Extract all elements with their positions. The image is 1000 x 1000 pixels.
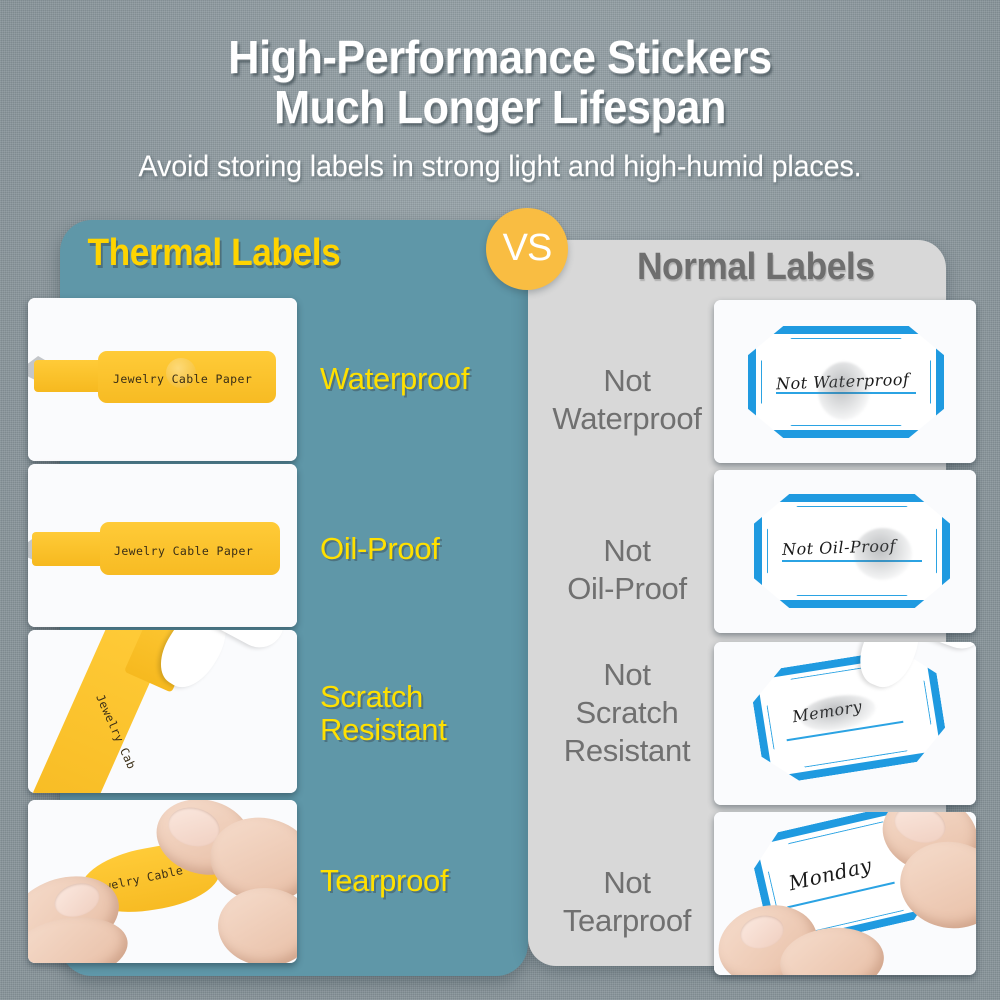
thermal-label-text: Jewelry Cable Paper: [114, 544, 253, 558]
normal-photo-card-waterproof: Not Waterproof: [714, 300, 976, 463]
normal-photo-2: Not Oil-Proof: [714, 470, 976, 633]
label-tail: [32, 532, 104, 566]
normal-feature-not-scratch: Not Scratch Resistant: [524, 656, 730, 769]
water-smudge: [818, 362, 870, 420]
normal-labels-title: Normal Labels: [637, 246, 874, 289]
normal-feature-not-tearproof: Not Tearproof: [524, 864, 730, 940]
vs-badge: VS: [486, 208, 568, 290]
thermal-label-text: Jewelry Cable Paper: [113, 372, 252, 386]
thermal-photo-card-waterproof: Jewelry Cable Paper: [28, 298, 297, 461]
thermal-photo-2: Jewelry Cable Paper: [28, 464, 297, 627]
thermal-feature-oilproof: Oil-Proof: [320, 532, 440, 565]
normal-feature-not-waterproof: Not Waterproof: [524, 362, 730, 438]
normal-photo-1: Not Waterproof: [714, 300, 976, 463]
thermal-photo-3: Jewelry Cab: [28, 630, 297, 793]
normal-photo-card-oilproof: Not Oil-Proof: [714, 470, 976, 633]
thermal-feature-waterproof: Waterproof: [320, 362, 469, 395]
thermal-labels-title: Thermal Labels: [88, 232, 341, 275]
thermal-photo-card-tearproof: ewelry Cable: [28, 800, 297, 963]
thermal-photo-4: ewelry Cable: [28, 800, 297, 963]
hand-right-lower: [215, 885, 297, 963]
page-title-line2: Much Longer Lifespan: [30, 84, 970, 131]
thermal-photo-card-scratch: Jewelry Cab: [28, 630, 297, 793]
thermal-feature-tearproof: Tearproof: [320, 864, 448, 897]
infographic-stage: High-Performance Stickers Much Longer Li…: [0, 0, 1000, 1000]
normal-photo-4: Monday: [714, 812, 976, 975]
normal-photo-card-scratch: Memory: [714, 642, 976, 805]
normal-feature-not-oilproof: Not Oil-Proof: [524, 532, 730, 608]
normal-photo-3: Memory: [714, 642, 976, 805]
label-tail: [34, 360, 104, 392]
thermal-feature-scratch: Scratch Resistant: [320, 680, 447, 747]
vs-badge-label: VS: [503, 227, 552, 270]
thermal-photo-1: Jewelry Cable Paper: [28, 298, 297, 461]
page-subtitle: Avoid storing labels in strong light and…: [20, 150, 980, 184]
normal-photo-card-tearproof: Monday: [714, 812, 976, 975]
thermal-photo-card-oilproof: Jewelry Cable Paper: [28, 464, 297, 627]
page-title-line1: High-Performance Stickers: [30, 34, 970, 81]
oil-smudge: [854, 528, 912, 580]
